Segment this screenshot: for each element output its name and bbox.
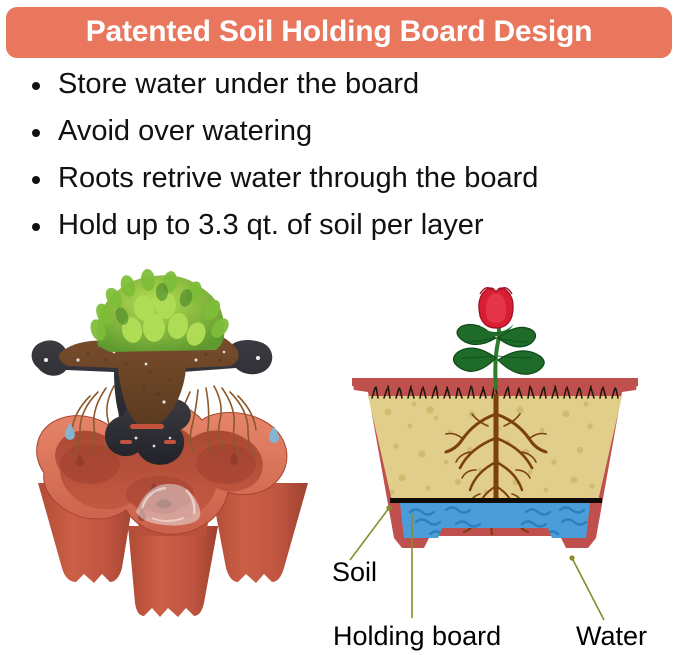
callout-leader-lines: [0, 268, 679, 655]
feature-text: Store water under the board: [58, 68, 419, 100]
illustration-area: Soil Holding board Water: [0, 268, 679, 655]
callout-label-water: Water: [576, 623, 647, 650]
list-item: Store water under the board: [26, 70, 666, 99]
infographic-page: Patented Soil Holding Board Design Store…: [0, 0, 679, 655]
feature-list: Store water under the board Avoid over w…: [26, 70, 666, 258]
bullet-icon: [32, 223, 40, 231]
feature-text: Roots retrive water through the board: [58, 162, 538, 194]
leader-line-soil: [350, 508, 389, 560]
list-item: Roots retrive water through the board: [26, 164, 666, 193]
page-title: Patented Soil Holding Board Design: [86, 17, 593, 49]
list-item: Avoid over watering: [26, 117, 666, 146]
leader-line-water: [572, 558, 604, 620]
feature-text: Hold up to 3.3 qt. of soil per layer: [58, 209, 484, 241]
bullet-icon: [32, 82, 40, 90]
callout-label-soil: Soil: [332, 559, 377, 586]
header-banner: Patented Soil Holding Board Design: [6, 7, 672, 58]
bullet-icon: [32, 129, 40, 137]
bullet-icon: [32, 176, 40, 184]
feature-text: Avoid over watering: [58, 115, 312, 147]
callout-label-holding-board: Holding board: [333, 623, 501, 650]
list-item: Hold up to 3.3 qt. of soil per layer: [26, 211, 666, 240]
